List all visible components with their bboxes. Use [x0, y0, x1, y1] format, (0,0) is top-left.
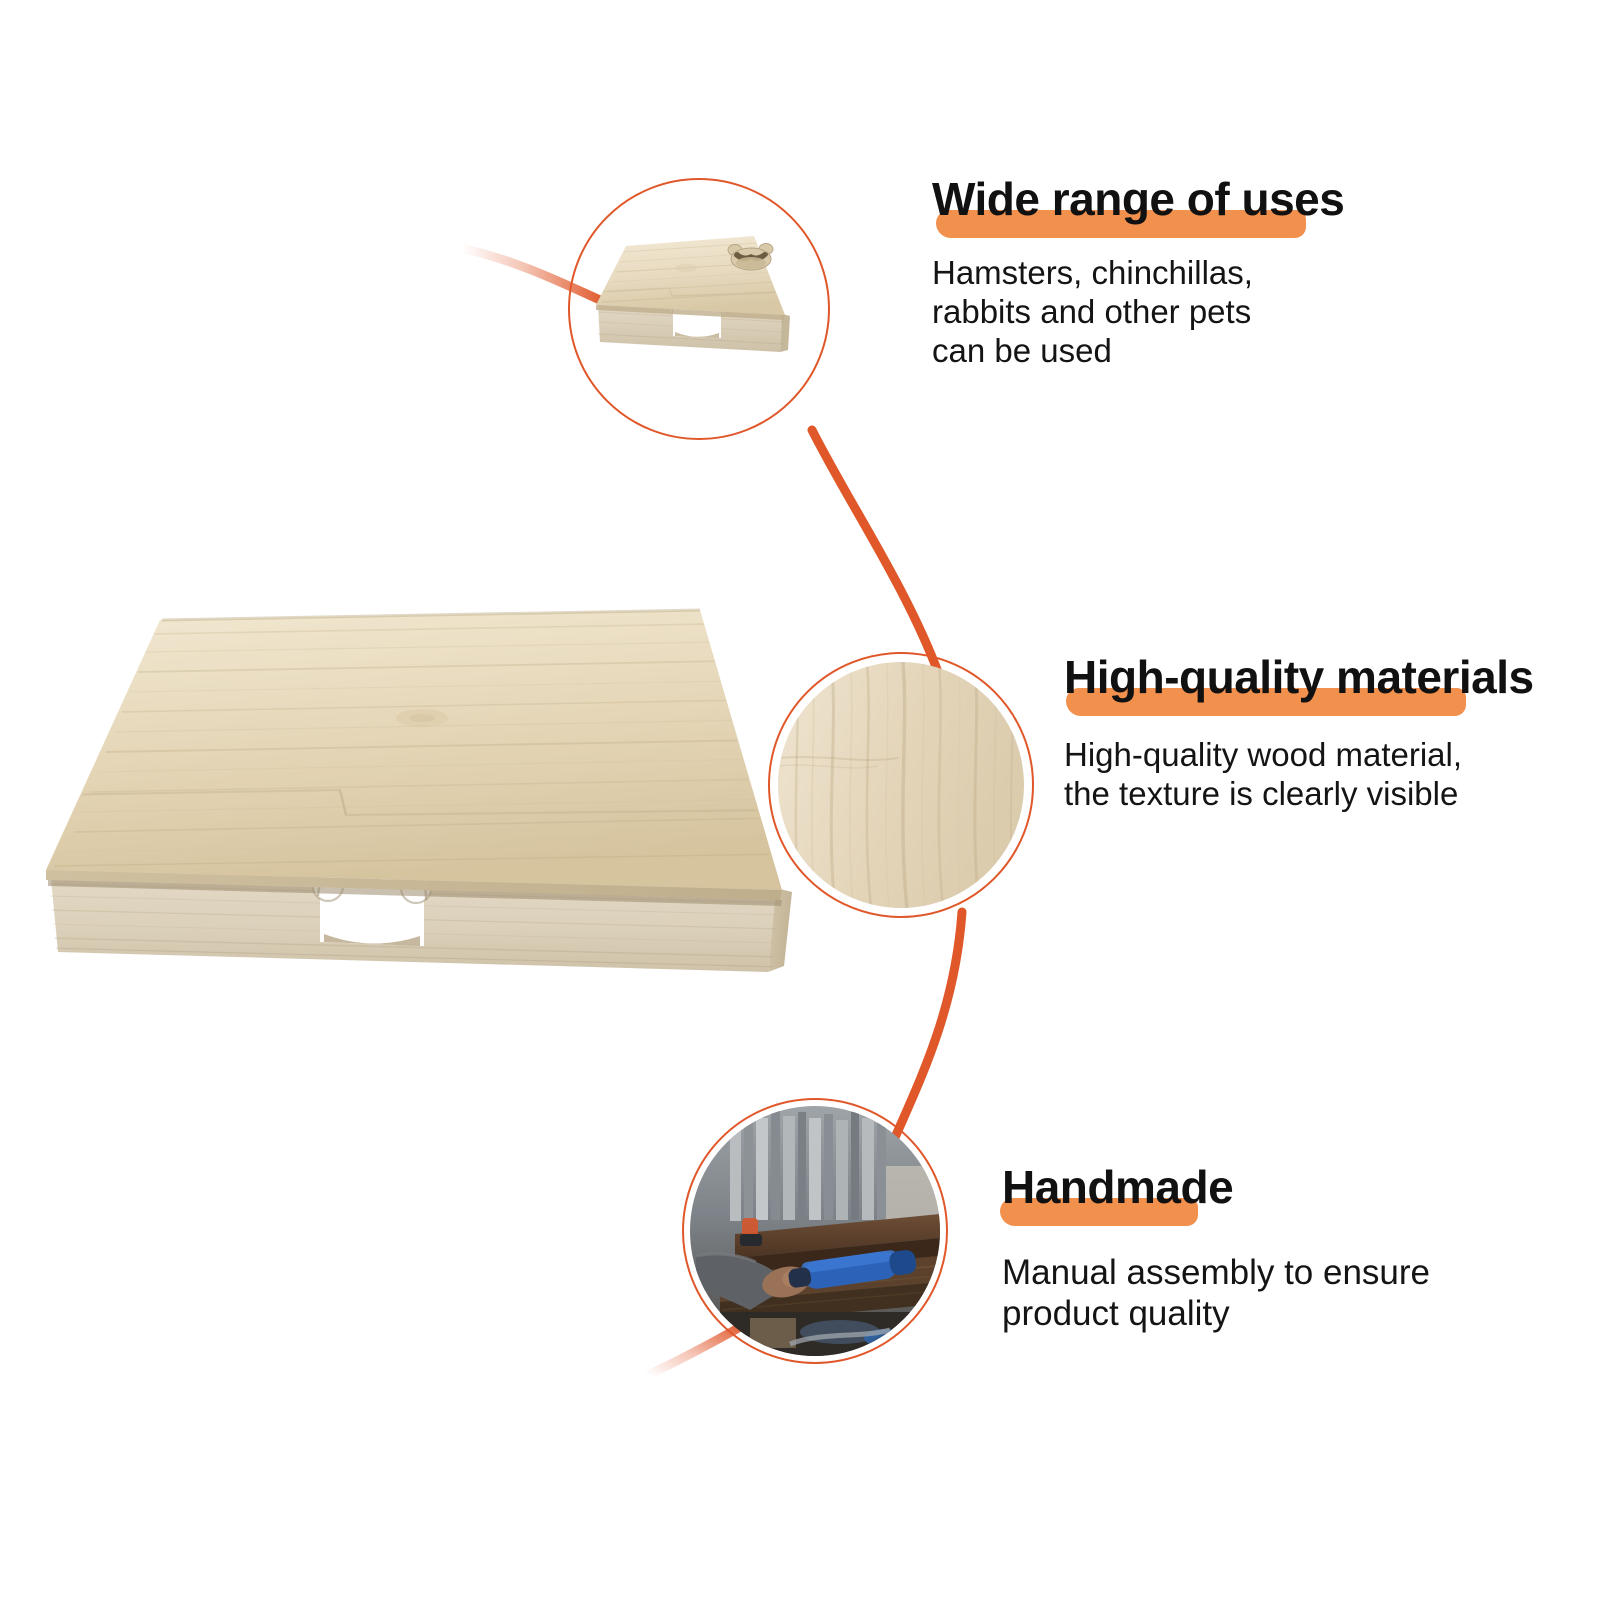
feature-body-2: High-quality wood material, the texture … — [1064, 736, 1600, 814]
feature-body-1: Hamsters, chinchillas, rabbits and other… — [932, 254, 1532, 371]
feature-text-handmade: Handmade Manual assembly to ensure produ… — [1002, 1164, 1582, 1335]
feature-text-wide-range-of-uses: Wide range of uses Hamsters, chinchillas… — [932, 176, 1532, 371]
heading-wrap-3: Handmade — [1002, 1164, 1233, 1210]
feature-heading-1: Wide range of uses — [932, 173, 1344, 225]
pointer-tail-bottom — [648, 1326, 742, 1375]
callout-3-image-clip — [690, 1106, 940, 1356]
callout-high-quality-materials[interactable] — [768, 652, 1034, 918]
infographic-canvas: Wide range of uses Hamsters, chinchillas… — [0, 0, 1600, 1600]
wood-grain-base — [778, 662, 1024, 908]
product-main-image — [10, 600, 800, 1030]
heading-wrap-1: Wide range of uses — [932, 176, 1344, 222]
connector-curve-2-to-3 — [893, 912, 962, 1142]
feature-heading-2: High-quality materials — [1064, 651, 1534, 703]
callout-1-image-clip — [574, 184, 824, 434]
callout-wide-range-of-uses[interactable] — [568, 178, 830, 440]
connector-curve-1-to-2 — [812, 430, 938, 672]
feature-body-3: Manual assembly to ensure product qualit… — [1002, 1252, 1582, 1335]
feature-heading-3: Handmade — [1002, 1161, 1233, 1213]
callout-2-image-clip — [778, 662, 1024, 908]
callout-handmade[interactable] — [682, 1098, 948, 1364]
heading-wrap-2: High-quality materials — [1064, 654, 1534, 700]
feature-text-high-quality-materials: High-quality materials High-quality wood… — [1064, 654, 1600, 814]
